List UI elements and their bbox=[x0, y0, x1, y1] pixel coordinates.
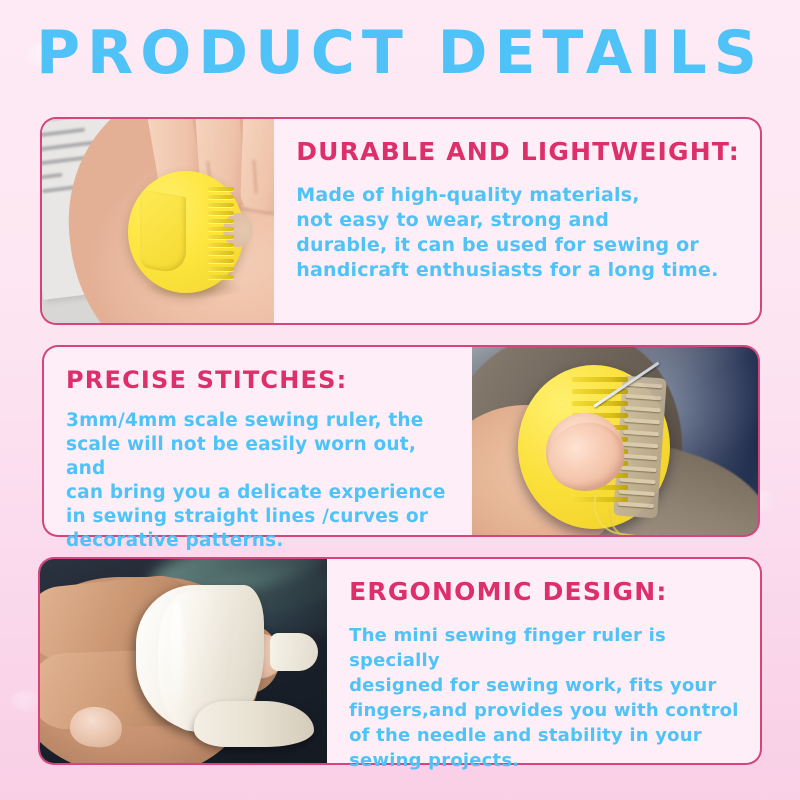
page-title-container: PRODUCT DETAILS bbox=[0, 18, 800, 88]
product-photo-sewing-in-use bbox=[472, 345, 760, 537]
card-heading: ERGONOMIC DESIGN: bbox=[349, 577, 740, 607]
stitch bbox=[623, 418, 659, 425]
white-finger-ruler bbox=[136, 585, 312, 743]
card-body: Made of high-quality materials, not easy… bbox=[296, 183, 740, 283]
scale-tooth bbox=[208, 187, 234, 191]
thread bbox=[608, 505, 657, 537]
card-heading: DURABLE AND LIGHTWEIGHT: bbox=[296, 137, 740, 167]
blurred-text-line bbox=[40, 128, 85, 138]
blurred-text-line bbox=[40, 173, 62, 180]
scale-tooth bbox=[208, 211, 234, 215]
stitch bbox=[625, 394, 661, 401]
section-row-2: PRECISE STITCHES: 3mm/4mm scale sewing r… bbox=[42, 345, 760, 537]
text-card-ergonomic: ERGONOMIC DESIGN: The mini sewing finger… bbox=[327, 557, 762, 765]
scale-tooth bbox=[208, 259, 234, 263]
text-card-precise-stitches: PRECISE STITCHES: 3mm/4mm scale sewing r… bbox=[42, 345, 472, 537]
card-body: The mini sewing finger ruler is speciall… bbox=[349, 623, 740, 773]
scale-tooth bbox=[208, 275, 234, 279]
tool-tab bbox=[270, 633, 318, 671]
text-card-durable: DURABLE AND LIGHTWEIGHT: Made of high-qu… bbox=[274, 117, 762, 325]
scale-tooth bbox=[208, 235, 234, 239]
scale-tooth bbox=[208, 243, 234, 247]
section-row-3: ERGONOMIC DESIGN: The mini sewing finger… bbox=[38, 557, 762, 765]
scale-tooth bbox=[208, 203, 234, 207]
stitch bbox=[623, 430, 659, 437]
card-heading: PRECISE STITCHES: bbox=[66, 365, 452, 395]
tool-highlight bbox=[170, 601, 184, 711]
scale-tooth bbox=[208, 251, 234, 255]
product-details-infographic: PRODUCT DETAILS bbox=[0, 0, 800, 800]
section-row-1: DURABLE AND LIGHTWEIGHT: Made of high-qu… bbox=[40, 117, 762, 325]
scale-tooth bbox=[208, 195, 234, 199]
page-title: PRODUCT DETAILS bbox=[36, 18, 764, 88]
scale-tooth bbox=[208, 219, 234, 223]
card-body: 3mm/4mm scale sewing ruler, the scale wi… bbox=[66, 409, 452, 553]
tool-finger-ridge bbox=[140, 189, 186, 275]
scale-tooth bbox=[208, 267, 234, 271]
stitch bbox=[624, 406, 660, 413]
product-photo-palm bbox=[40, 117, 274, 325]
yellow-finger-ruler bbox=[128, 171, 244, 293]
tool-lower-lip bbox=[194, 701, 314, 747]
scale-tooth bbox=[208, 227, 234, 231]
scale-tooth bbox=[572, 377, 628, 382]
product-photo-white-ruler bbox=[38, 557, 327, 765]
tool-scale-teeth bbox=[208, 187, 234, 279]
finger bbox=[240, 117, 274, 216]
